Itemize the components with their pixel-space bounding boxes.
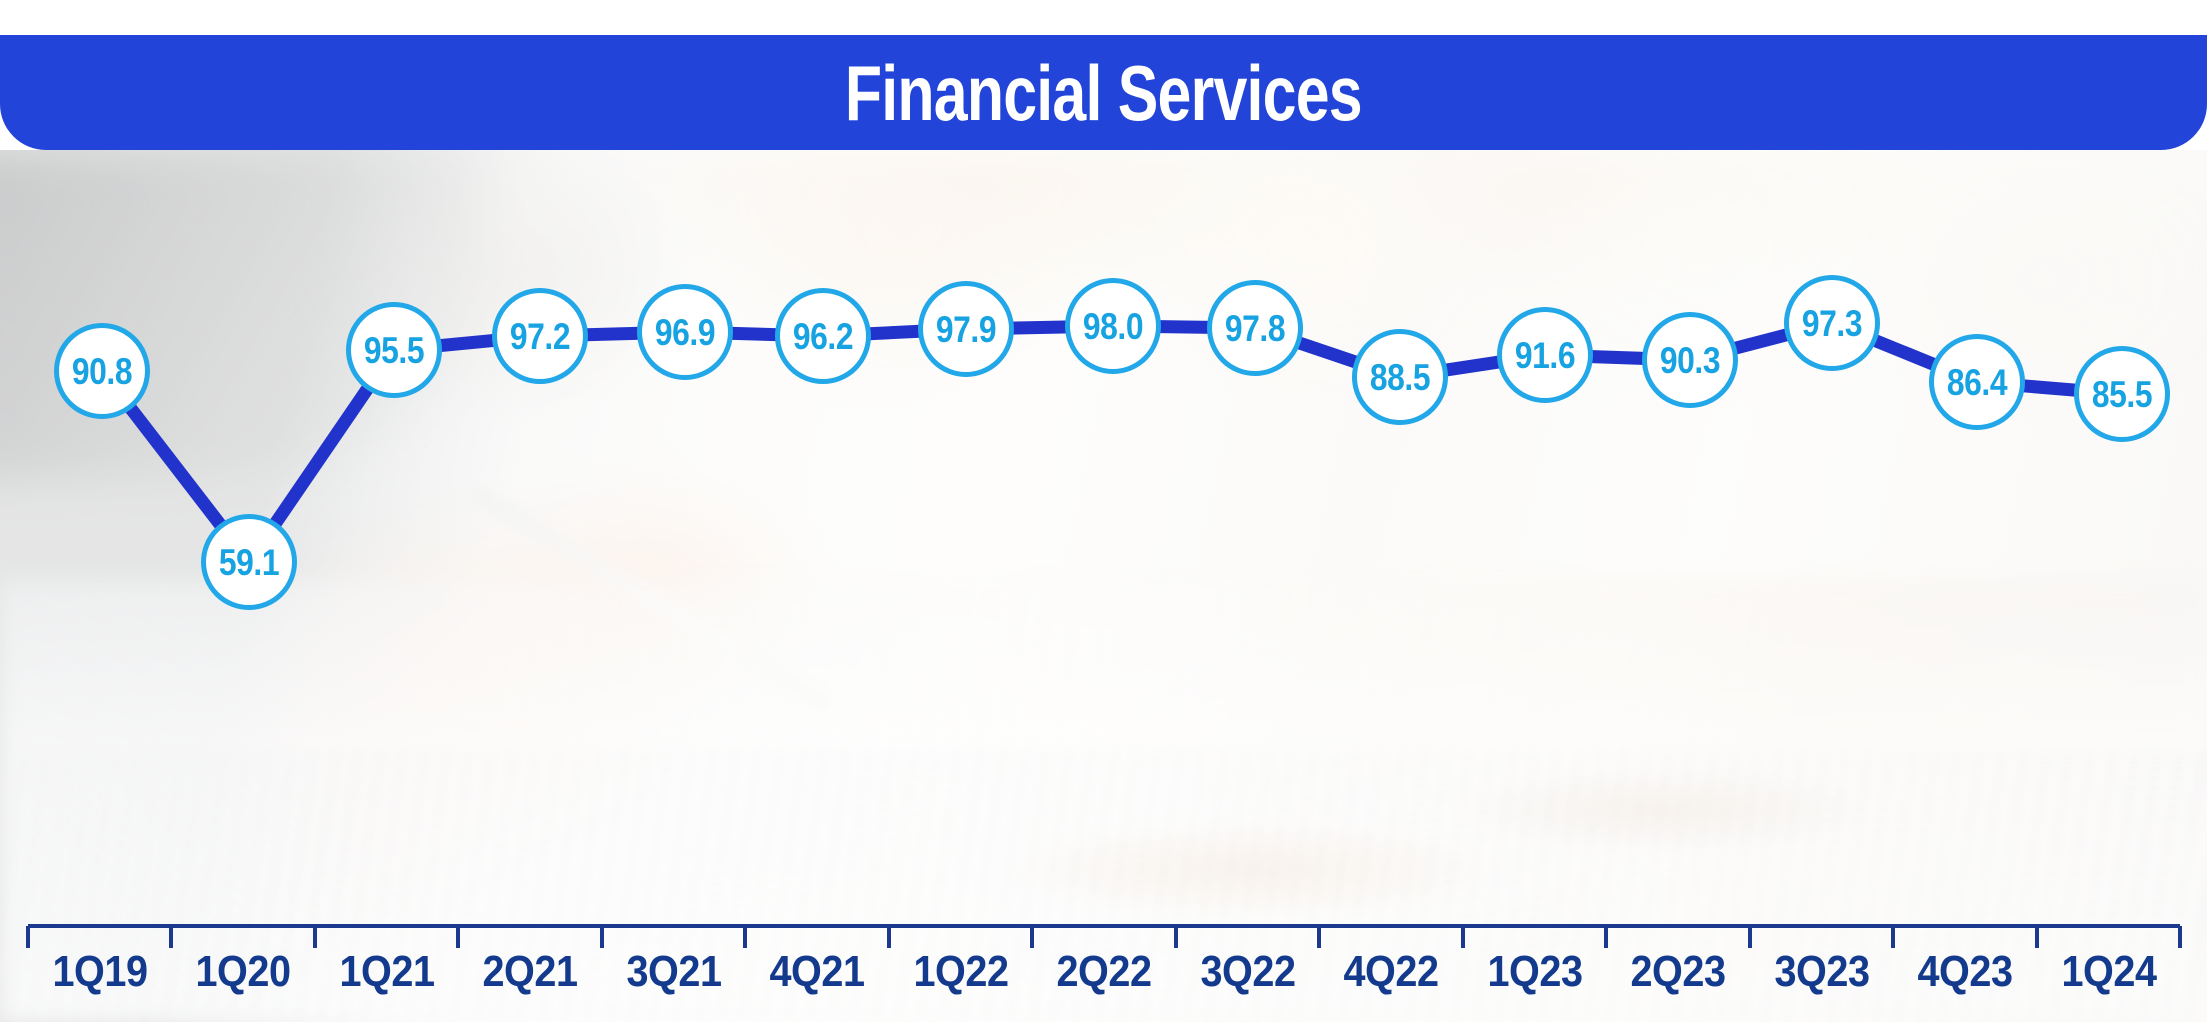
- x-axis-label-1Q21: 1Q21: [339, 950, 434, 994]
- x-axis-label-3Q21: 3Q21: [626, 950, 721, 994]
- x-axis-label-2Q23: 2Q23: [1630, 950, 1725, 994]
- x-axis-label-2Q21: 2Q21: [482, 950, 577, 994]
- x-axis-label-2Q22: 2Q22: [1056, 950, 1151, 994]
- x-axis-label-3Q23: 3Q23: [1774, 950, 1869, 994]
- title-banner: Financial Services: [0, 35, 2207, 150]
- x-axis-label-3Q22: 3Q22: [1200, 950, 1295, 994]
- x-axis-label-4Q23: 4Q23: [1917, 950, 2012, 994]
- x-axis-label-1Q20: 1Q20: [195, 950, 290, 994]
- x-axis-label-4Q21: 4Q21: [769, 950, 864, 994]
- x-axis-label-1Q23: 1Q23: [1487, 950, 1582, 994]
- page-title: Financial Services: [845, 54, 1362, 132]
- chart-slide: Financial Services 90.859.195.597.296.99…: [0, 0, 2207, 1022]
- axis-line-and-ticks: [0, 0, 2207, 1022]
- x-axis: 1Q191Q201Q212Q213Q214Q211Q222Q223Q224Q22…: [0, 0, 2207, 1022]
- x-axis-label-4Q22: 4Q22: [1343, 950, 1438, 994]
- x-axis-label-1Q19: 1Q19: [52, 950, 147, 994]
- x-axis-label-1Q24: 1Q24: [2061, 950, 2156, 994]
- x-axis-label-1Q22: 1Q22: [913, 950, 1008, 994]
